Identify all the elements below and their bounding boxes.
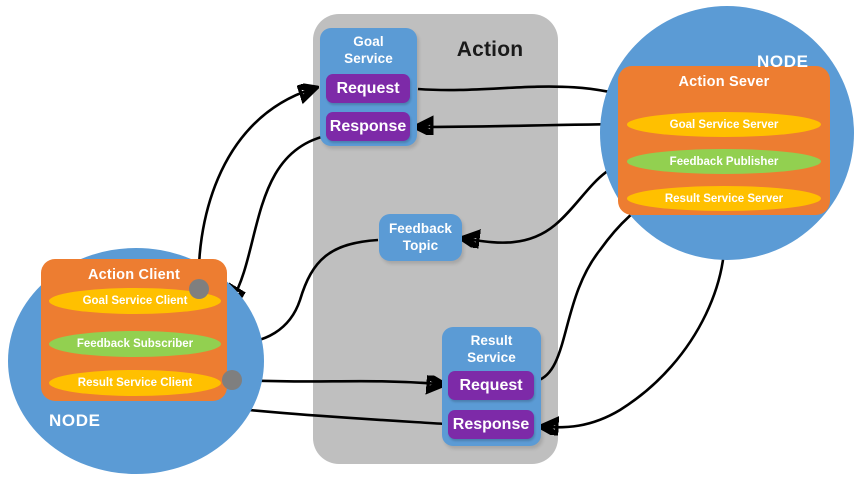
result-service-title-line1: Result xyxy=(442,332,541,349)
feedback-topic-box[interactable]: Feedback Topic xyxy=(379,214,462,261)
goal-service-response-pill[interactable]: Response xyxy=(326,112,410,141)
client-node-label: NODE xyxy=(49,411,101,431)
result-service-response-pill[interactable]: Response xyxy=(448,410,534,439)
feedback-topic-title-line2: Topic xyxy=(379,237,462,254)
result-client-connector-dot xyxy=(222,370,242,390)
feedback-topic-title-line1: Feedback xyxy=(379,220,462,237)
action-server-title: Action Sever xyxy=(618,74,830,90)
goal-service-server-ellipse[interactable]: Goal Service Server xyxy=(627,112,821,137)
goal-service-request-pill[interactable]: Request xyxy=(326,74,410,103)
result-service-title: Result Service xyxy=(442,327,541,366)
goal-client-connector-dot xyxy=(189,279,209,299)
feedback-topic-title: Feedback Topic xyxy=(379,214,462,254)
server-node-label: NODE xyxy=(757,52,809,72)
feedback-subscriber-ellipse[interactable]: Feedback Subscriber xyxy=(49,331,221,357)
feedback-publisher-ellipse[interactable]: Feedback Publisher xyxy=(627,149,821,174)
action-title: Action xyxy=(430,38,550,62)
result-service-request-pill[interactable]: Request xyxy=(448,371,534,400)
result-service-client-ellipse[interactable]: Result Service Client xyxy=(49,370,221,396)
result-service-title-line2: Service xyxy=(442,349,541,366)
goal-service-title-line1: Goal xyxy=(320,33,417,50)
goal-service-title-line2: Service xyxy=(320,50,417,67)
goal-service-title: Goal Service xyxy=(320,28,417,67)
result-service-server-ellipse[interactable]: Result Service Server xyxy=(627,186,821,211)
diagram-canvas: Action Goal Service xyxy=(0,0,854,480)
